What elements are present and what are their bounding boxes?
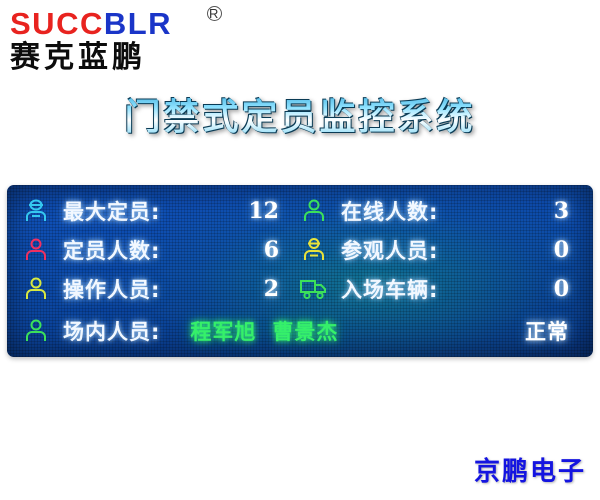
led-row-occupants: 场内人员: 程军旭 曹景杰 正常 [19,308,583,353]
footer-company-logo: 京鹏电子 [474,451,586,488]
led-label-operator-count: 操作人员: [63,274,160,304]
led-value-max-capacity: 12 [248,198,297,224]
led-cell-operator-count: 操作人员: 2 [19,269,297,308]
led-display-panel: 最大定员: 12 在线人数: 3 [7,185,593,357]
led-cell-quota-count: 定员人数: 6 [19,230,297,269]
brand-chinese-text: 赛克蓝鹏 [10,42,220,74]
led-label-vehicle-count: 入场车辆: [341,274,438,304]
led-value-visitor-count: 0 [554,237,583,263]
status-badge: 正常 [525,316,583,346]
person-hardhat-icon [19,196,53,226]
led-cell-vehicle-count: 入场车辆: 0 [297,269,583,308]
led-label-quota-count: 定员人数: [63,235,160,265]
occupant-name: 程军旭 [190,316,256,346]
led-value-quota-count: 6 [264,237,297,263]
led-row: 最大定员: 12 在线人数: 3 [19,191,583,230]
led-row: 操作人员: 2 入场车辆: [19,269,583,308]
occupant-names-list: 程军旭 曹景杰 [190,316,338,346]
led-value-online-count: 3 [554,198,583,224]
led-label-occupants: 场内人员: [63,316,160,346]
led-cell-max-capacity: 最大定员: 12 [19,191,297,230]
led-value-operator-count: 2 [264,276,297,302]
person-visitor-icon [297,235,331,265]
app-root: SUCCBLR R 赛克蓝鹏 门禁式定员监控系统 [0,0,600,500]
led-content: 最大定员: 12 在线人数: 3 [7,185,593,357]
led-cell-visitor-count: 参观人员: 0 [297,230,583,269]
person-icon [19,274,53,304]
person-icon [19,235,53,265]
page-title: 门禁式定员监控系统 [0,88,600,140]
occupant-name: 曹景杰 [272,316,338,346]
led-label-visitor-count: 参观人员: [341,235,438,265]
led-value-vehicle-count: 0 [554,276,583,302]
brand-latin-text: SUCCBLR R [10,8,220,40]
company-logo: SUCCBLR R 赛克蓝鹏 [10,8,220,72]
led-cell-online-count: 在线人数: 3 [297,191,583,230]
person-icon [19,316,53,346]
person-icon [297,196,331,226]
registered-trademark-icon: R [207,6,222,21]
brand-succ-text: SUCC [10,6,104,41]
led-label-online-count: 在线人数: [341,196,438,226]
led-row: 定员人数: 6 参观人员: [19,230,583,269]
truck-icon [297,274,331,304]
brand-blr-text: BLR [104,6,172,41]
led-label-max-capacity: 最大定员: [63,196,160,226]
